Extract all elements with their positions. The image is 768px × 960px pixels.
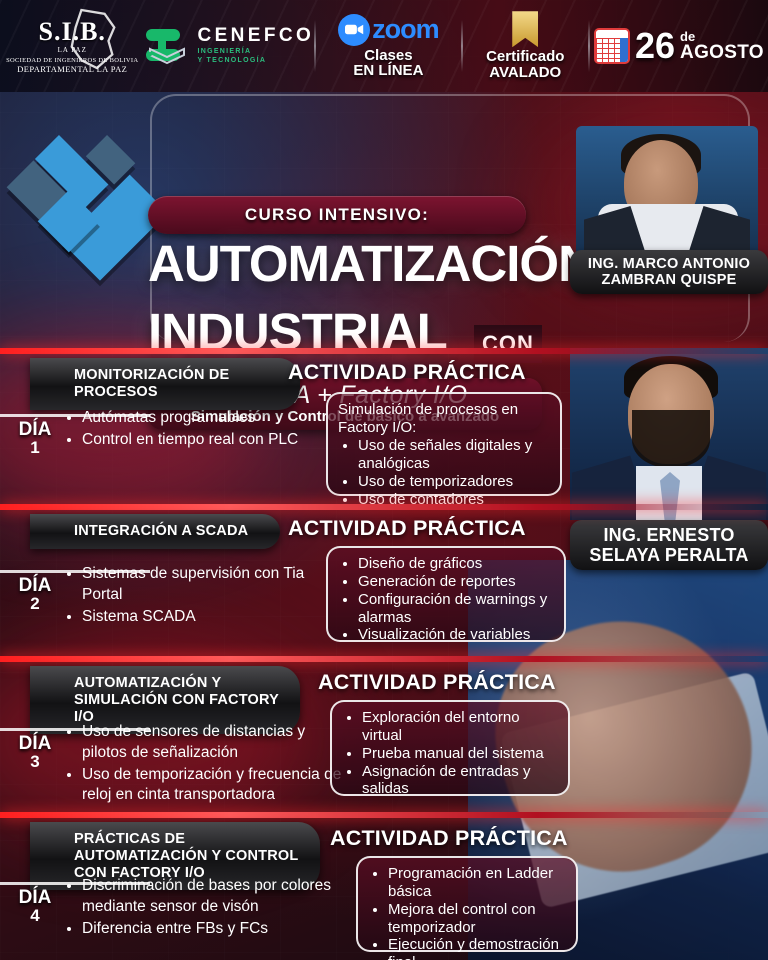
day-3-label: DÍA	[4, 734, 66, 753]
list-item: Uso de temporización y frecuencia de rel…	[82, 765, 342, 807]
list-item: Exploración del entorno virtual	[362, 709, 558, 745]
day-1-bullets: Autómatas programables Control en tiempo…	[64, 408, 332, 452]
day-block-2: INTEGRACIÓN A SCADA DÍA 2 Sistemas de su…	[0, 508, 768, 658]
instructor-1-line2: ZAMBRAN QUISPE	[602, 272, 737, 288]
zoom-camera-icon	[338, 14, 370, 46]
list-item: Sistema SCADA	[82, 607, 332, 628]
activity-lead: Simulación de procesos en Factory I/O:	[338, 401, 550, 436]
award-ribbon-icon	[512, 11, 538, 47]
eyebrow-pill: CURSO INTENSIVO:	[148, 196, 526, 234]
certificate-block: Certificado AVALADO	[463, 0, 588, 92]
day-2-activity-box: Diseño de gráficos Generación de reporte…	[326, 546, 566, 642]
zoom-block: zoom Clases EN LÍNEA	[316, 0, 460, 92]
sib-logo: S.I.B. LA PAZ SOCIEDAD DE INGENIEROS DE …	[0, 0, 144, 92]
list-item: Sistemas de supervisión con Tia Portal	[82, 564, 332, 606]
instructor-1-line1: ING. MARCO ANTONIO	[588, 256, 750, 272]
day-3-bullets: Uso de sensores de distancias y pilotos …	[64, 722, 342, 807]
list-item: Configuración de warnings y alarmas	[358, 591, 554, 627]
page-title-line1: AUTOMATIZACIÓN	[148, 238, 594, 289]
list-item: Programación en Ladder básica	[388, 865, 566, 901]
date-month: AGOSTO	[680, 43, 764, 62]
zoom-line1: Clases	[353, 48, 423, 63]
day-block-3: AUTOMATIZACIÓN Y SIMULACIÓN CON FACTORY …	[0, 660, 768, 812]
list-item: Uso de sensores de distancias y pilotos …	[82, 722, 342, 764]
list-item: Control en tiempo real con PLC	[82, 430, 332, 451]
list-item: Uso de temporizadores	[358, 473, 550, 491]
day-block-1: MONITORIZACIÓN DE PROCESOS DÍA 1 Autómat…	[0, 352, 768, 502]
list-item: Prueba manual del sistema	[362, 745, 558, 763]
day-1-activity-heading: ACTIVIDAD PRÁCTICA	[288, 360, 526, 385]
day-3-activity-heading: ACTIVIDAD PRÁCTICA	[318, 670, 556, 695]
list-item: Generación de reportes	[358, 573, 554, 591]
list-item: Diferencia entre FBs y FCs	[82, 919, 340, 940]
instructor-photo-1	[576, 126, 758, 256]
list-item: Ejecución y demostración final	[388, 936, 566, 960]
day-2-tab: DÍA 2	[4, 576, 66, 613]
list-item: Asignación de entradas y salidas	[362, 763, 558, 799]
day-4-bullets: Discriminación de bases por colores medi…	[64, 876, 340, 940]
day-3-tab: DÍA 3	[4, 734, 66, 771]
certificate-line2: AVALADO	[486, 65, 564, 81]
list-item: Visualización de variables	[358, 626, 554, 644]
day-1-activity-box: Simulación de procesos en Factory I/O: U…	[326, 392, 562, 496]
calendar-icon	[594, 28, 630, 64]
day-4-tab: DÍA 4	[4, 888, 66, 925]
day-1-tab: DÍA 1	[4, 420, 66, 457]
eyebrow-text: CURSO INTENSIVO:	[245, 205, 429, 225]
cenefco-subtitle-line2: Y TECNOLOGÍA	[197, 57, 314, 66]
day-2-bullets: Sistemas de supervisión con Tia Portal S…	[64, 564, 332, 628]
instructor-name-1: ING. MARCO ANTONIO ZAMBRAN QUISPE	[570, 250, 768, 294]
cenefco-logo: CENEFCO INGENIERÍA Y TECNOLOGÍA	[144, 0, 314, 92]
certificate-line1: Certificado	[486, 49, 564, 65]
day-2-label: DÍA	[4, 576, 66, 595]
list-item: Autómatas programables	[82, 408, 332, 429]
list-item: Discriminación de bases por colores medi…	[82, 876, 340, 918]
day-3-activity-box: Exploración del entorno virtual Prueba m…	[330, 700, 570, 796]
date-block: 26 de AGOSTO	[590, 0, 768, 92]
cenefco-name: CENEFCO	[197, 26, 314, 45]
day-3-number: 3	[4, 753, 66, 771]
zoom-line2: EN LÍNEA	[353, 63, 423, 78]
day-4-activity-box: Programación en Ladder básica Mejora del…	[356, 856, 578, 952]
date-day: 26	[635, 30, 675, 62]
list-item: Diseño de gráficos	[358, 555, 554, 573]
day-1-topic: MONITORIZACIÓN DE PROCESOS	[30, 358, 300, 410]
zoom-wordmark: zoom	[372, 16, 439, 43]
day-1-number: 1	[4, 439, 66, 457]
day-4-activity-heading: ACTIVIDAD PRÁCTICA	[330, 826, 568, 851]
list-item: Uso de señales digitales y analógicas	[358, 437, 550, 473]
cenefco-subtitle-line1: INGENIERÍA	[197, 48, 314, 57]
day-4-label: DÍA	[4, 888, 66, 907]
header-bar: S.I.B. LA PAZ SOCIEDAD DE INGENIEROS DE …	[0, 0, 768, 92]
bolivia-map-icon	[64, 8, 122, 70]
day-2-activity-heading: ACTIVIDAD PRÁCTICA	[288, 516, 526, 541]
day-block-4: PRÁCTICAS DE AUTOMATIZACIÓN Y CONTROL CO…	[0, 816, 768, 960]
day-4-number: 4	[4, 907, 66, 925]
day-2-topic: INTEGRACIÓN A SCADA	[30, 514, 280, 549]
day-2-number: 2	[4, 595, 66, 613]
cenefco-graduation-logo-icon	[144, 23, 190, 69]
day-1-label: DÍA	[4, 420, 66, 439]
course-flyer: S.I.B. LA PAZ SOCIEDAD DE INGENIEROS DE …	[0, 0, 768, 960]
list-item: Mejora del control con temporizador	[388, 901, 566, 937]
